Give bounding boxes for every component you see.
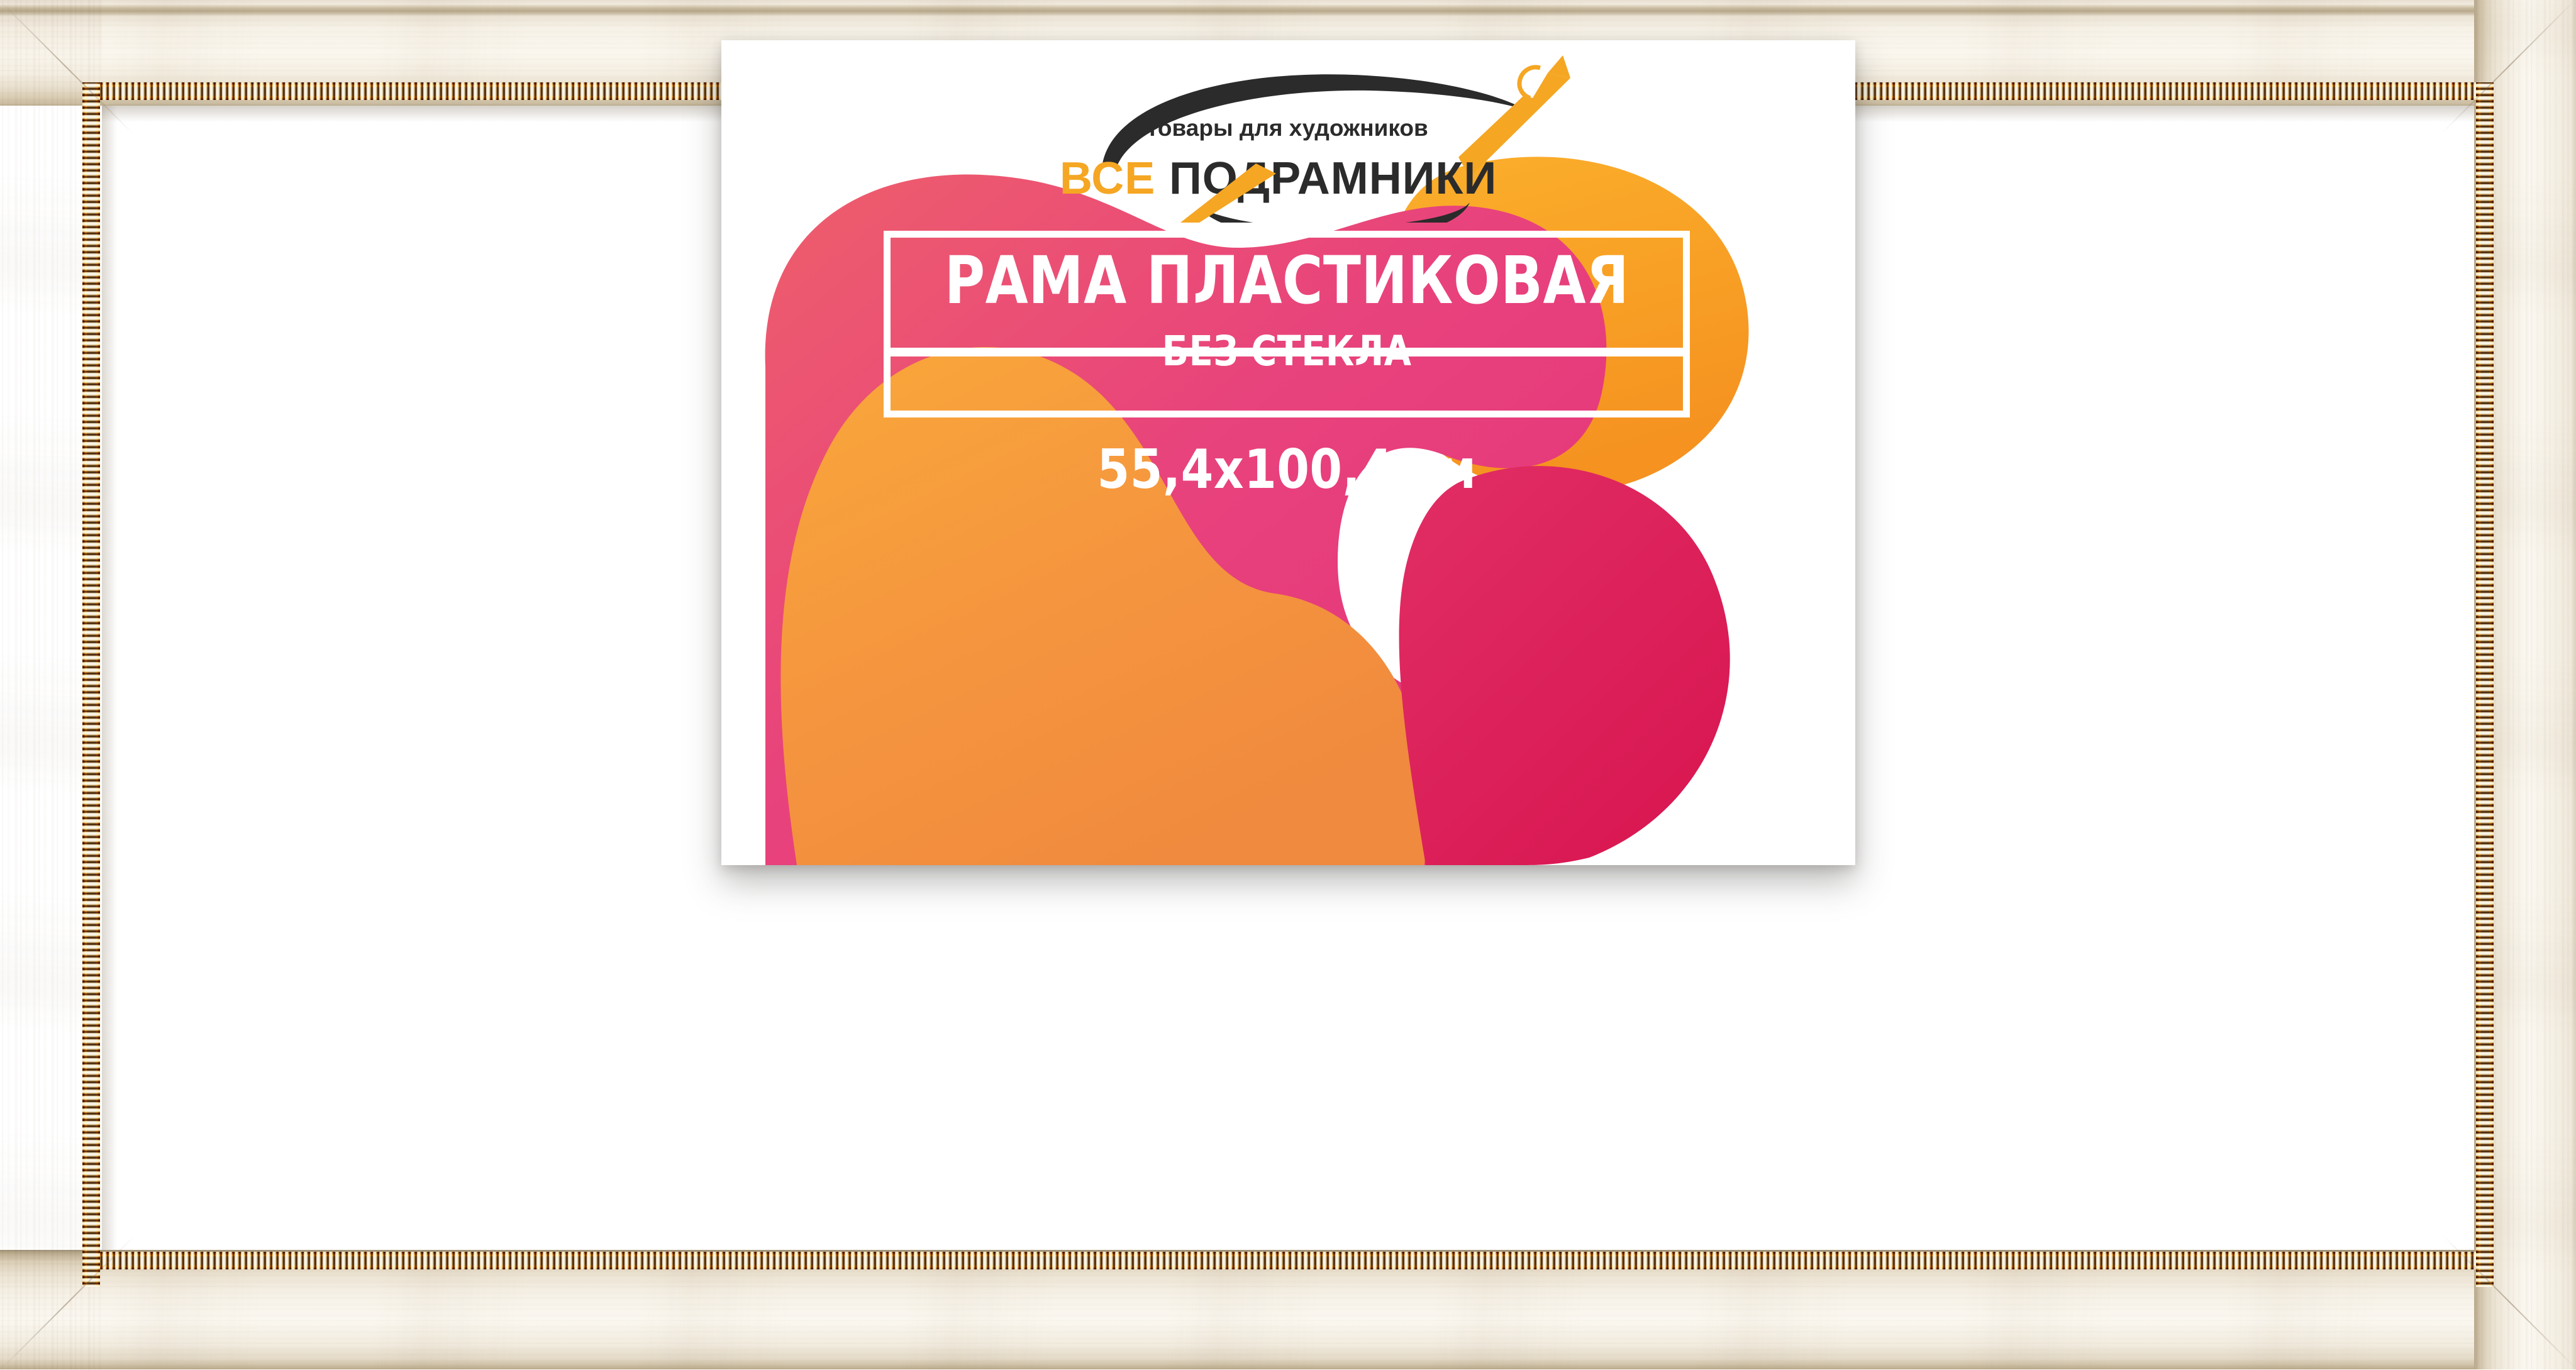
brand-logo: товары для художников ВСЕ ПОДРАМНИКИ (992, 40, 1583, 223)
spec-title: РАМА ПЛАСТИКОВАЯ (908, 248, 1665, 313)
spec-size: 55,4х100,4 см (900, 443, 1674, 497)
promo-label-card: товары для художников ВСЕ ПОДРАМНИКИ РАМ… (721, 40, 1855, 865)
frame-bead-strip-bottom (82, 1252, 2494, 1269)
logo-tagline: товары для художников (1146, 115, 1428, 141)
mat-inner-shadow-left (102, 106, 117, 1250)
logo-brand-first: ВСЕ (1060, 153, 1155, 204)
frame-bead-strip-right (2476, 82, 2494, 1287)
spec-subtitle: БЕЗ СТЕКЛА (908, 331, 1665, 372)
product-photo: товары для художников ВСЕ ПОДРАМНИКИ РАМ… (0, 0, 2576, 1369)
ellipse-swoosh-lower-icon (1199, 202, 1470, 223)
frame-bead-strip-left (82, 82, 100, 1287)
